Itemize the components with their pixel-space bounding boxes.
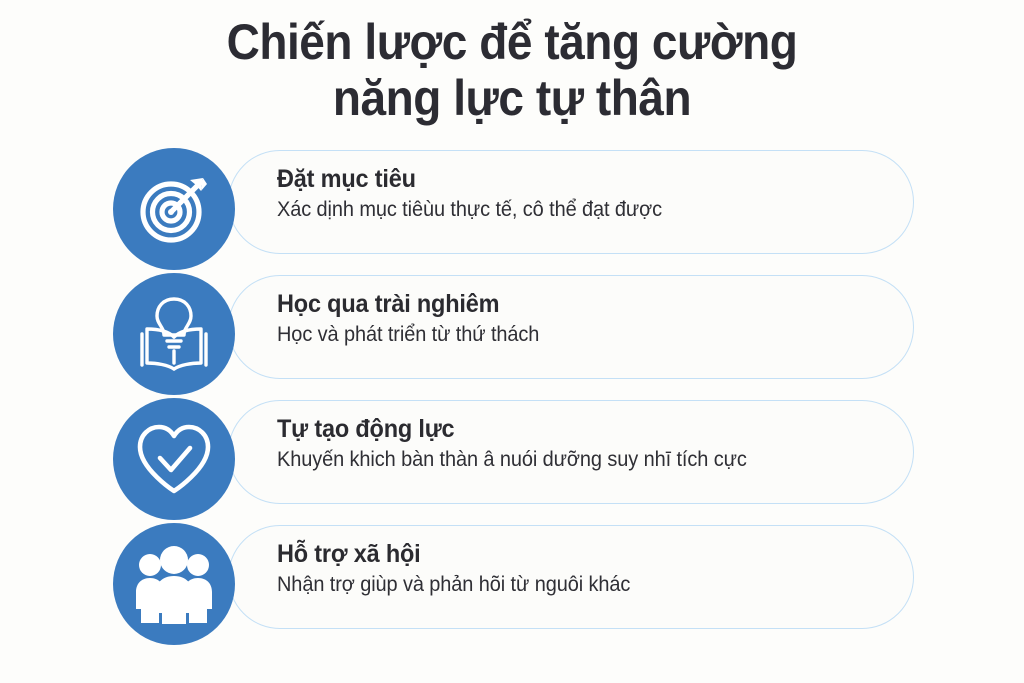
page-title-line-1: Chiến lược để tăng cường: [41, 14, 983, 70]
strategy-card[interactable]: Đặt mục tiêu Xác dịnh mục tiêùu thực tế,…: [0, 148, 1024, 273]
card-subtitle: Xác dịnh mục tiêùu thực tế, cô thể đạt đ…: [277, 197, 885, 223]
card-heading: Tự tạo động lực: [277, 414, 879, 444]
card-text-block: Tự tạo động lực Khuyến khich bàn thàn â …: [277, 414, 917, 473]
card-subtitle: Học và phát triển từ thứ thách: [277, 322, 885, 348]
card-text-block: Đặt mục tiêu Xác dịnh mục tiêùu thực tế,…: [277, 164, 917, 223]
page-title-line-2: năng lực tự thân: [41, 70, 983, 126]
people-group-icon: [113, 523, 235, 645]
infographic-page: Chiến lược để tăng cường năng lực tự thâ…: [0, 0, 1024, 683]
lightbulb-book-icon: [113, 273, 235, 395]
card-text-block: Học qua trài nghiêm Học và phát triển từ…: [277, 289, 917, 348]
strategy-card-list: Đặt mục tiêu Xác dịnh mục tiêùu thực tế,…: [0, 148, 1024, 648]
card-heading: Đặt mục tiêu: [277, 164, 879, 194]
page-title: Chiến lược để tăng cường năng lực tự thâ…: [0, 14, 1024, 126]
strategy-card[interactable]: Học qua trài nghiêm Học và phát triển từ…: [0, 273, 1024, 398]
card-subtitle: Khuyến khich bàn thàn â nuói dưỡng suy n…: [277, 447, 885, 473]
card-heading: Học qua trài nghiêm: [277, 289, 879, 319]
card-text-block: Hỗ trợ xã hội Nhận trợ giùp và phản hõi …: [277, 539, 917, 598]
strategy-card[interactable]: Hỗ trợ xã hội Nhận trợ giùp và phản hõi …: [0, 523, 1024, 648]
strategy-card[interactable]: Tự tạo động lực Khuyến khich bàn thàn â …: [0, 398, 1024, 523]
card-subtitle: Nhận trợ giùp và phản hõi từ nguôi khác: [277, 572, 885, 598]
card-heading: Hỗ trợ xã hội: [277, 539, 879, 569]
heart-check-icon: [113, 398, 235, 520]
target-icon: [113, 148, 235, 270]
